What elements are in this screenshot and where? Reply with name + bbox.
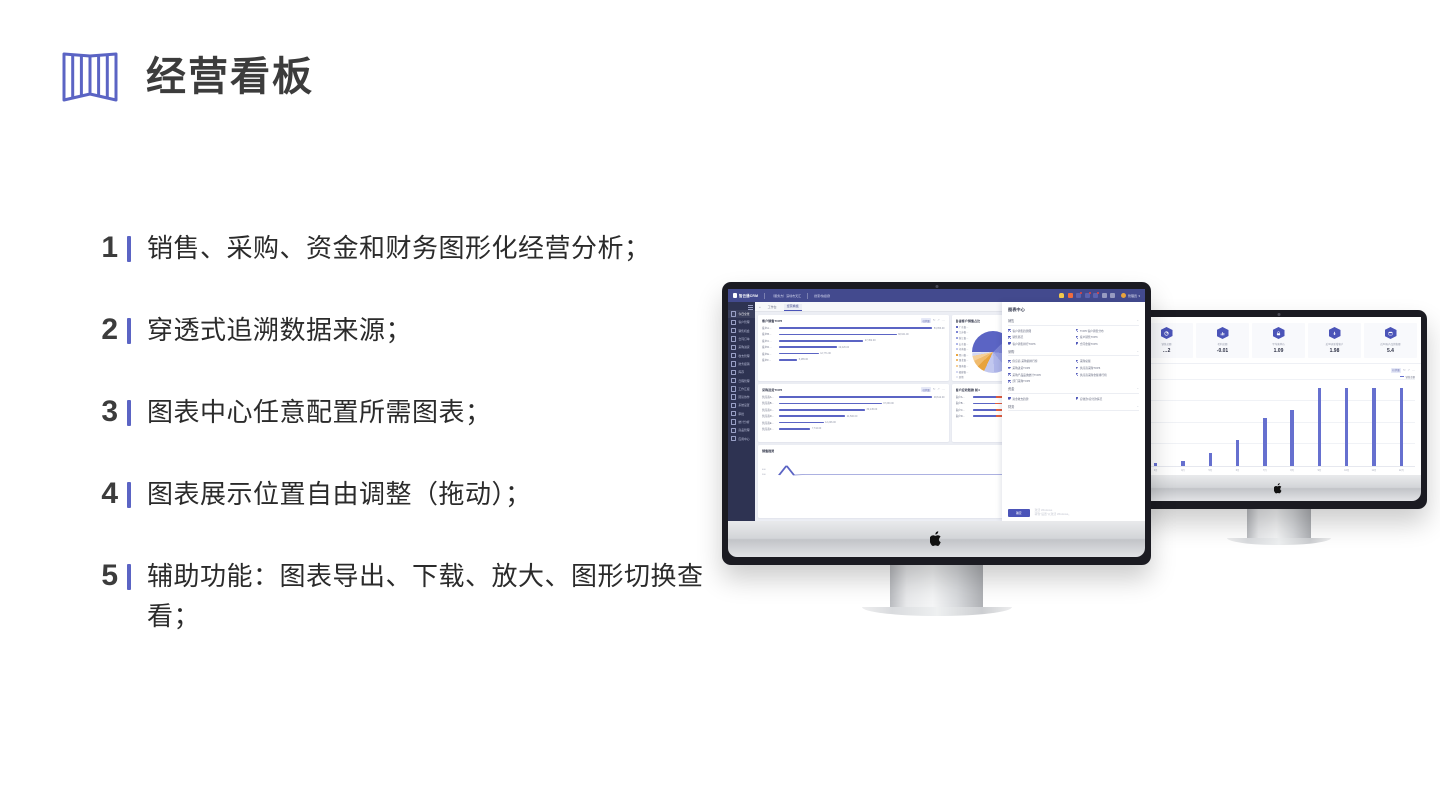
chart-type-select[interactable]: 柱状图 <box>921 318 931 323</box>
list-item: 4 图表展示位置自由调整（拖动）； <box>92 474 732 514</box>
monitor-chin <box>728 521 1145 557</box>
kpi-value: 1.09 <box>1274 348 1284 354</box>
drawer-option-label: 客户销售TOP6 <box>1080 335 1098 339</box>
bar-column <box>1251 380 1278 466</box>
y-tick-label: 400 <box>762 469 766 471</box>
drawer-group-1: 采购⌄供应商·采购额排行榜采购总额采购进货TOP6供应商采购TOP6采购产品品类… <box>1008 349 1139 383</box>
slide-root: 经营看板 1 销售、采购、资金和财务图形化经营分析； 2 穿透式追溯数据来源； … <box>0 0 1440 810</box>
x-tick-label: 4月 <box>1169 468 1196 472</box>
drawer-group-header[interactable]: 采购⌄ <box>1008 349 1139 357</box>
legend-swatch <box>956 376 958 378</box>
bar-column <box>1224 380 1251 466</box>
bar <box>1154 463 1157 465</box>
legend-swatch <box>956 354 958 356</box>
chart-type-select[interactable]: 柱状图 <box>921 387 931 392</box>
search-input[interactable]: 搜索/快捷键 <box>814 294 830 298</box>
chevron-down-icon[interactable]: ⌄ <box>1136 350 1139 353</box>
legend-label: 山东省… <box>959 342 969 346</box>
monitor-bezel: 销售总额 …2 毛利总额 -0.01 <box>1130 310 1427 509</box>
bar <box>1181 461 1184 465</box>
bar-value: 27,452.00 <box>865 339 876 342</box>
card-header: 采购进货TOP6 柱状图 ↻ ↗ ⋯ <box>762 387 945 392</box>
bar-label: 客户D… <box>956 414 971 418</box>
drawer-option-grid: 客户销售趋势图TOP6 客户销售分布销售简况客户销售TOP6客户销售排行TOP6… <box>1008 329 1139 346</box>
legend-swatch <box>956 371 958 373</box>
app-topbar: 智云通CRM （服务方）深圳市天汇 搜索/快捷键 <box>728 289 1145 302</box>
chart-icon <box>731 419 736 424</box>
x-tick-label: 6月 <box>1224 468 1251 472</box>
home-icon <box>731 311 736 316</box>
legend-item: 四川省… <box>956 353 969 357</box>
bar-row: 客户C…27,452.00 <box>762 339 945 343</box>
list-item-accent-bar <box>127 318 131 344</box>
refresh-icon[interactable]: ↻ <box>933 388 936 391</box>
bar-value: 30,145.00 <box>867 408 878 411</box>
sidebar-item-0[interactable]: 今日全景 <box>728 310 755 318</box>
refresh-icon[interactable]: ↻ <box>933 319 936 322</box>
legend-item: 广东省… <box>956 325 969 329</box>
sidebar-item-11[interactable]: 系统设置 <box>728 401 755 409</box>
target-icon <box>731 328 736 333</box>
topbar-icon-group <box>1059 293 1115 298</box>
drawer-group-header[interactable]: 资金⌄ <box>1008 386 1139 394</box>
bar-track: 7,742.00 <box>779 427 945 430</box>
card-toolbar: 柱状图 ↻ ↗ ⋯ <box>921 387 944 392</box>
help-icon[interactable] <box>1110 293 1115 298</box>
drawer-option-label: 供应商采购金额排行榜 <box>1080 373 1107 377</box>
drawer-group-name: 财务 <box>1008 404 1014 409</box>
bar-label: 供应商E… <box>762 421 777 425</box>
sidebar-item-4[interactable]: 采购进货 <box>728 343 755 351</box>
cart-icon <box>731 345 736 350</box>
user-menu[interactable]: 管理员 ▾ <box>1121 293 1140 298</box>
expand-icon[interactable]: ↗ <box>937 319 940 322</box>
more-icon[interactable]: ⋯ <box>1412 369 1415 372</box>
monitor-stand-foot <box>1227 538 1331 545</box>
lock-icon <box>1273 327 1285 339</box>
bar-row: 客户A…53,353.00 <box>762 326 945 330</box>
drawer-option-label: 客户销售排行TOP6 <box>1012 342 1035 346</box>
list-item-text: 图表中心任意配置所需图表； <box>147 392 732 432</box>
chevron-down-icon[interactable]: ⌄ <box>1136 405 1139 408</box>
crm-application: 智云通CRM （服务方）深圳市天汇 搜索/快捷键 <box>728 289 1145 521</box>
drawer-group-2: 资金⌄资金收支趋势应收款/应付款情况 <box>1008 386 1139 401</box>
bar-track: 53,353.00 <box>779 327 945 330</box>
kpi-card[interactable]: 平均客单价 1.09 <box>1252 323 1305 358</box>
bar-track: 19,026.00 <box>779 346 945 349</box>
kpi-label: 平均客单价 <box>1272 342 1285 346</box>
bar-fill <box>779 422 824 424</box>
drawer-option-label: 资金收支趋势 <box>1012 397 1028 401</box>
bar-label: 客户B… <box>762 332 777 336</box>
book-icon <box>60 48 120 106</box>
tab-scroll-left-icon[interactable]: « <box>759 305 761 311</box>
checkbox-checked-icon[interactable] <box>1076 373 1079 376</box>
bar-segment-a <box>973 415 996 417</box>
kpi-value: 5.4 <box>1387 348 1394 354</box>
imac-monitor-secondary: 销售总额 …2 毛利总额 -0.01 <box>1130 310 1427 545</box>
monthly-sales-bar-chart: 柱状图 ↻ ↗ ⋯ 销售金额 <box>1136 363 1421 475</box>
bar-track: 48,612.00 <box>779 396 945 399</box>
bar-label: 客户F… <box>762 358 777 362</box>
kpi-card[interactable]: 近30天产品销售额 5.4 <box>1364 323 1417 358</box>
bar <box>1209 453 1212 466</box>
sidebar-item-15[interactable]: 应用中心 <box>728 434 755 442</box>
card-title: 采购进货TOP6 <box>762 387 782 392</box>
checkbox-checked-icon[interactable] <box>1008 397 1011 400</box>
drawer-group-name: 采购 <box>1008 349 1014 354</box>
checkbox-checked-icon[interactable] <box>1076 329 1079 332</box>
user-name: 管理员 <box>1128 294 1137 298</box>
sidebar-item-label: 客户管理 <box>738 320 749 324</box>
drawer-option[interactable]: 采购进货TOP6 <box>1008 366 1072 370</box>
bar-track: 30,145.00 <box>779 408 945 411</box>
drawer-option-label: 合同金额TOP6 <box>1080 342 1098 346</box>
receipt-icon <box>731 361 736 366</box>
check-icon <box>731 411 736 416</box>
drawer-option-label: 应收款/应付款情况 <box>1080 397 1102 401</box>
checkbox-checked-icon[interactable] <box>1008 360 1011 363</box>
bar-column <box>1278 380 1305 466</box>
drawer-option[interactable]: 供应商采购金额排行榜 <box>1076 373 1140 377</box>
bar-row: 供应商A…48,612.00 <box>762 395 945 399</box>
apple-logo-icon <box>930 531 943 547</box>
sidebar-item-label: 系统设置 <box>738 403 749 407</box>
chevron-down-icon[interactable]: ⌄ <box>1136 387 1139 390</box>
card-purchase-top6: 采购进货TOP6 柱状图 ↻ ↗ ⋯ <box>758 384 949 442</box>
bar <box>1318 388 1321 465</box>
legend-label: 四川省… <box>959 353 969 357</box>
sidebar-item-3[interactable]: 合同订单 <box>728 335 755 343</box>
bar-fill <box>779 359 797 361</box>
monitor-stand-foot <box>862 607 1012 616</box>
bar-fill <box>779 396 932 398</box>
list-item-accent-bar <box>127 400 131 426</box>
checkbox-checked-icon[interactable] <box>1008 373 1011 376</box>
kpi-value: 1.98 <box>1330 348 1340 354</box>
drawer-group-name: 销售 <box>1008 318 1014 323</box>
wallet-icon <box>731 353 736 358</box>
expand-icon[interactable]: ↗ <box>937 388 940 391</box>
x-tick-label: 7月 <box>1251 468 1278 472</box>
kpi-label: 销售总额 <box>1161 342 1171 346</box>
chevron-down-icon[interactable]: ⌄ <box>1136 319 1139 322</box>
x-tick-label: 8月 <box>1278 468 1305 472</box>
bar-track: 5,285.00 <box>779 358 945 361</box>
kpi-value: …2 <box>1163 348 1171 354</box>
sidebar-item-5[interactable]: 收支管理 <box>728 351 755 359</box>
divider <box>764 293 765 299</box>
more-icon[interactable]: ⋯ <box>942 319 945 322</box>
drawer-group-header[interactable]: 销售⌄ <box>1008 318 1139 326</box>
legend-item: 山东省… <box>956 342 969 346</box>
dashboard-secondary: 销售总额 …2 毛利总额 -0.01 <box>1136 317 1421 475</box>
monitor-stand-neck <box>890 565 983 607</box>
drawer-option[interactable]: 合同金额TOP6 <box>1076 342 1140 346</box>
sidebar-item-label: 工作汇报 <box>738 387 749 391</box>
legend-swatch <box>956 359 958 361</box>
report-icon <box>731 386 736 391</box>
bar-track: 38,641.00 <box>779 333 945 336</box>
bar <box>1236 440 1239 466</box>
tab-dashboard[interactable]: 经营看板 <box>784 304 802 311</box>
monitor-stand-neck <box>1247 509 1311 538</box>
legend-label: 江苏省… <box>959 330 969 334</box>
bar-label: 客户A… <box>956 395 971 399</box>
list-item: 1 销售、采购、资金和财务图形化经营分析； <box>92 228 732 268</box>
expand-icon[interactable]: ↗ <box>1407 369 1410 372</box>
gear-icon <box>731 403 736 408</box>
app-body: 今日全景客户管理销售机会合同订单采购进货收支管理财务报销库存日程管理工作汇报团队… <box>728 302 1145 521</box>
imac-monitor-primary: 智云通CRM （服务方）深圳市天汇 搜索/快捷键 <box>722 282 1151 616</box>
bar-value: 5,285.00 <box>799 358 808 361</box>
bell-icon[interactable] <box>1085 293 1090 298</box>
bulb-icon[interactable] <box>1059 293 1064 298</box>
legend-item: 河南省… <box>956 347 969 351</box>
bar-label: 供应商B… <box>762 401 777 405</box>
legend-swatch <box>956 331 958 333</box>
bar-label: 客户A… <box>762 326 777 330</box>
sidebar-item-9[interactable]: 工作汇报 <box>728 385 755 393</box>
sidebar-item-2[interactable]: 销售机会 <box>728 327 755 335</box>
bar-label: 供应商F… <box>762 427 777 431</box>
checkbox-checked-icon[interactable] <box>1008 380 1011 383</box>
more-icon[interactable]: ⋯ <box>942 388 945 391</box>
sidebar-item-label: 收支管理 <box>738 354 749 358</box>
chevron-down-icon: ▾ <box>1138 294 1140 298</box>
drawer-option-label: 客户销售趋势图 <box>1012 329 1031 333</box>
drawer-option[interactable]: 销售简况 <box>1008 335 1072 339</box>
checkbox-checked-icon[interactable] <box>1008 336 1011 339</box>
message-icon[interactable] <box>1076 293 1081 298</box>
bar-fill <box>779 340 863 342</box>
drawer-footer: 确定 激活 Windows 转到"设置"以激活 Windows。 <box>1008 509 1139 517</box>
sidebar-item-label: 采购进货 <box>738 345 749 349</box>
bar-label: 客户B… <box>956 401 971 405</box>
list-item-text: 图表展示位置自由调整（拖动）； <box>147 474 732 514</box>
drawer-group-0: 销售⌄客户销售趋势图TOP6 客户销售分布销售简况客户销售TOP6客户销售排行T… <box>1008 318 1139 346</box>
checkbox-checked-icon[interactable] <box>1076 336 1079 339</box>
bar-value: 37,330.00 <box>883 402 894 405</box>
bar-column <box>1169 380 1196 466</box>
drawer-option[interactable]: 客户销售趋势图 <box>1008 329 1072 333</box>
legend-item: 湖北省… <box>956 358 969 362</box>
bar-value: 12,771.00 <box>820 352 831 355</box>
bar-segment-a <box>973 396 996 398</box>
sidebar-item-label: 财务报销 <box>738 362 749 366</box>
kpi-label: 毛利总额 <box>1217 342 1227 346</box>
card-title: 客户应收账款 前4 <box>956 387 980 392</box>
card-customer-sales-top6: 客户销售TOP6 柱状图 ↻ ↗ ⋯ <box>758 315 949 381</box>
drawer-option[interactable]: 采购产品品类统计TOP6 <box>1008 373 1072 377</box>
bar-fill <box>779 353 819 355</box>
calendar-icon[interactable] <box>1068 293 1073 298</box>
sidebar-item-label: 审批 <box>738 412 744 416</box>
sidebar-item-label: 库存 <box>738 370 744 374</box>
drawer-option-label: 部门采购TOP6 <box>1012 379 1030 383</box>
drawer-group-header[interactable]: 财务⌄ <box>1008 404 1139 412</box>
legend-label: 浙江省… <box>959 336 969 340</box>
sidebar-item-label: 日程管理 <box>738 379 749 383</box>
brand-logo[interactable]: 智云通CRM <box>733 293 758 298</box>
kpi-card[interactable]: 毛利总额 -0.01 <box>1196 323 1249 358</box>
drawer-option[interactable]: 应收款/应付款情况 <box>1076 397 1140 401</box>
chart-legend: 广东省…江苏省…浙江省…山东省…河南省…四川省…湖北省…湖南省…福建省…其他 <box>956 325 969 379</box>
kpi-card[interactable]: 近30天新增客户 1.98 <box>1308 323 1361 358</box>
drawer-option-label: TOP6 客户销售分布 <box>1080 329 1104 333</box>
legend-label: 湖北省… <box>959 358 969 362</box>
kpi-label: 近30天产品销售额 <box>1380 342 1400 346</box>
drawer-option-label: 销售简况 <box>1012 335 1023 339</box>
drawer-option[interactable]: 客户销售TOP6 <box>1076 335 1140 339</box>
bar-label: 客户D… <box>762 345 777 349</box>
monitor-chin <box>1136 475 1421 501</box>
bar-fill <box>779 415 845 417</box>
bar-value: 19,026.00 <box>838 346 849 349</box>
legend-label: 福建省… <box>959 370 969 374</box>
legend-label: 广东省… <box>959 325 969 329</box>
bar-value: 38,641.00 <box>898 333 909 336</box>
apps-icon <box>731 436 736 441</box>
bar-row: 客户B…38,641.00 <box>762 332 945 336</box>
checkbox-checked-icon[interactable] <box>1008 329 1011 332</box>
card-title: 销售趋势 <box>762 448 774 453</box>
drawer-option-grid: 供应商·采购额排行榜采购总额采购进货TOP6供应商采购TOP6采购产品品类统计T… <box>1008 359 1139 383</box>
drawer-option-label: 供应商·采购额排行榜 <box>1012 359 1037 363</box>
todo-icon[interactable] <box>1093 293 1098 298</box>
legend-swatch <box>956 348 958 350</box>
bar-track: 37,330.00 <box>779 402 945 405</box>
bar-label: 客户C… <box>956 408 971 412</box>
sidebar-item-14[interactable]: 商品管理 <box>728 426 755 434</box>
watermark-line-2: 转到"设置"以激活 Windows。 <box>1035 512 1071 516</box>
sidebar-item-6[interactable]: 财务报销 <box>728 360 755 368</box>
bar-row: 供应商E…12,206.00 <box>762 421 945 425</box>
monitor-bezel: 智云通CRM （服务方）深圳市天汇 搜索/快捷键 <box>722 282 1151 565</box>
bar-column <box>1306 380 1333 466</box>
bar-row: 客户E…12,771.00 <box>762 352 945 356</box>
card-title: 客户销售TOP6 <box>762 318 782 323</box>
team-icon <box>731 394 736 399</box>
bar <box>1372 388 1375 465</box>
sidebar-item-13[interactable]: 统计分析 <box>728 418 755 426</box>
y-tick-label: 300 <box>762 474 766 476</box>
chart-type-select[interactable]: 柱状图 <box>1391 368 1401 373</box>
bar-fill <box>779 334 897 336</box>
bar-track: 12,206.00 <box>779 421 945 424</box>
apple-logo-icon <box>1274 483 1283 494</box>
checkbox-checked-icon[interactable] <box>1076 367 1079 370</box>
bar-column <box>1360 380 1387 466</box>
list-item-text: 销售、采购、资金和财务图形化经营分析； <box>147 228 732 268</box>
drawer-option-label: 供应商采购TOP6 <box>1080 366 1100 370</box>
bar-track: 24,500.00 <box>779 415 945 418</box>
bar-segment-a <box>973 409 996 411</box>
legend-swatch <box>956 343 958 345</box>
sidebar-item-10[interactable]: 团队协作 <box>728 393 755 401</box>
x-tick-label: 11月 <box>1360 468 1387 472</box>
drawer-option[interactable]: 部门采购TOP6 <box>1008 379 1072 383</box>
sidebar-item-label: 应用中心 <box>738 437 749 441</box>
checkbox-checked-icon[interactable] <box>1076 360 1079 363</box>
confirm-button[interactable]: 确定 <box>1008 509 1030 517</box>
bar-row: 供应商C…30,145.00 <box>762 408 945 412</box>
sidebar-item-1[interactable]: 客户管理 <box>728 318 755 326</box>
chart-toolbar: 柱状图 ↻ ↗ ⋯ <box>1142 368 1415 373</box>
org-selector[interactable]: （服务方）深圳市天汇 <box>771 294 801 298</box>
refresh-icon[interactable]: ↻ <box>1403 369 1406 372</box>
kpi-card-row: 销售总额 …2 毛利总额 -0.01 <box>1136 317 1421 363</box>
drawer-title: 图表中心 <box>1008 307 1139 313</box>
drawer-group-list: 销售⌄客户销售趋势图TOP6 客户销售分布销售简况客户销售TOP6客户销售排行T… <box>1008 318 1139 414</box>
checkbox-checked-icon[interactable] <box>1076 397 1079 400</box>
drawer-group-name: 资金 <box>1008 386 1014 391</box>
doc-icon <box>731 336 736 341</box>
bar-value: 24,500.00 <box>847 415 858 418</box>
drawer-option-label: 采购进货TOP6 <box>1012 366 1030 370</box>
sidebar-item-12[interactable]: 审批 <box>728 410 755 418</box>
sidebar-item-8[interactable]: 日程管理 <box>728 376 755 384</box>
bar <box>1290 410 1293 466</box>
legend-label: 湖南省… <box>959 364 969 368</box>
list-item: 3 图表中心任意配置所需图表； <box>92 392 732 432</box>
legend-swatch <box>1400 376 1404 377</box>
bar-row: 供应商F…7,742.00 <box>762 427 945 431</box>
bar-value: 12,206.00 <box>825 421 836 424</box>
bar-value: 53,353.00 <box>934 327 945 330</box>
windows-activation-watermark: 激活 Windows 转到"设置"以激活 Windows。 <box>1035 509 1071 517</box>
bar-column <box>1333 380 1360 466</box>
settings-icon[interactable] <box>1102 293 1107 298</box>
sidebar-item-label: 统计分析 <box>738 420 749 424</box>
bar <box>1400 388 1403 465</box>
kpi-value: -0.01 <box>1217 348 1228 354</box>
divider <box>807 293 808 299</box>
bar-column <box>1388 380 1415 466</box>
feature-list: 1 销售、采购、资金和财务图形化经营分析； 2 穿透式追溯数据来源； 3 图表中… <box>92 228 732 636</box>
horizontal-bar-chart: 供应商A…48,612.00供应商B…37,330.00供应商C…30,145.… <box>762 395 945 431</box>
drawer-option-grid: 资金收支趋势应收款/应付款情况 <box>1008 397 1139 401</box>
card-toolbar: 柱状图 ↻ ↗ ⋯ <box>921 318 944 323</box>
checkbox-checked-icon[interactable] <box>1076 342 1079 345</box>
drawer-option[interactable]: 采购总额 <box>1076 359 1140 363</box>
list-item-accent-bar <box>127 564 131 590</box>
legend-swatch <box>956 337 958 339</box>
legend-swatch <box>956 326 958 328</box>
drawer-option-label: 采购总额 <box>1080 359 1091 363</box>
list-item-text: 穿透式追溯数据来源； <box>147 310 732 350</box>
sidebar-item-7[interactable]: 库存 <box>728 368 755 376</box>
webcam-icon <box>935 285 938 288</box>
goods-icon <box>731 428 736 433</box>
chart-x-axis: 3月4月5月6月7月8月9月10月11月12月 <box>1142 467 1415 473</box>
webcam-icon <box>1277 313 1280 316</box>
drawer-option[interactable]: TOP6 客户销售分布 <box>1076 329 1140 333</box>
bar <box>1345 388 1348 465</box>
card-title: 各省客户销售占比 <box>956 318 981 323</box>
drawer-option[interactable]: 资金收支趋势 <box>1008 397 1072 401</box>
tab-workbench[interactable]: 工作台 <box>765 305 780 311</box>
slide-header: 经营看板 <box>60 48 314 106</box>
drawer-option[interactable]: 供应商·采购额排行榜 <box>1008 359 1072 363</box>
bar-track: 27,452.00 <box>779 339 945 342</box>
list-item-number: 2 <box>92 310 118 350</box>
checkbox-checked-icon[interactable] <box>1008 367 1011 370</box>
legend-item: 浙江省… <box>956 336 969 340</box>
drawer-option[interactable]: 供应商采购TOP6 <box>1076 366 1140 370</box>
checkbox-checked-icon[interactable] <box>1008 342 1011 345</box>
drawer-option[interactable]: 客户销售排行TOP6 <box>1008 342 1072 346</box>
